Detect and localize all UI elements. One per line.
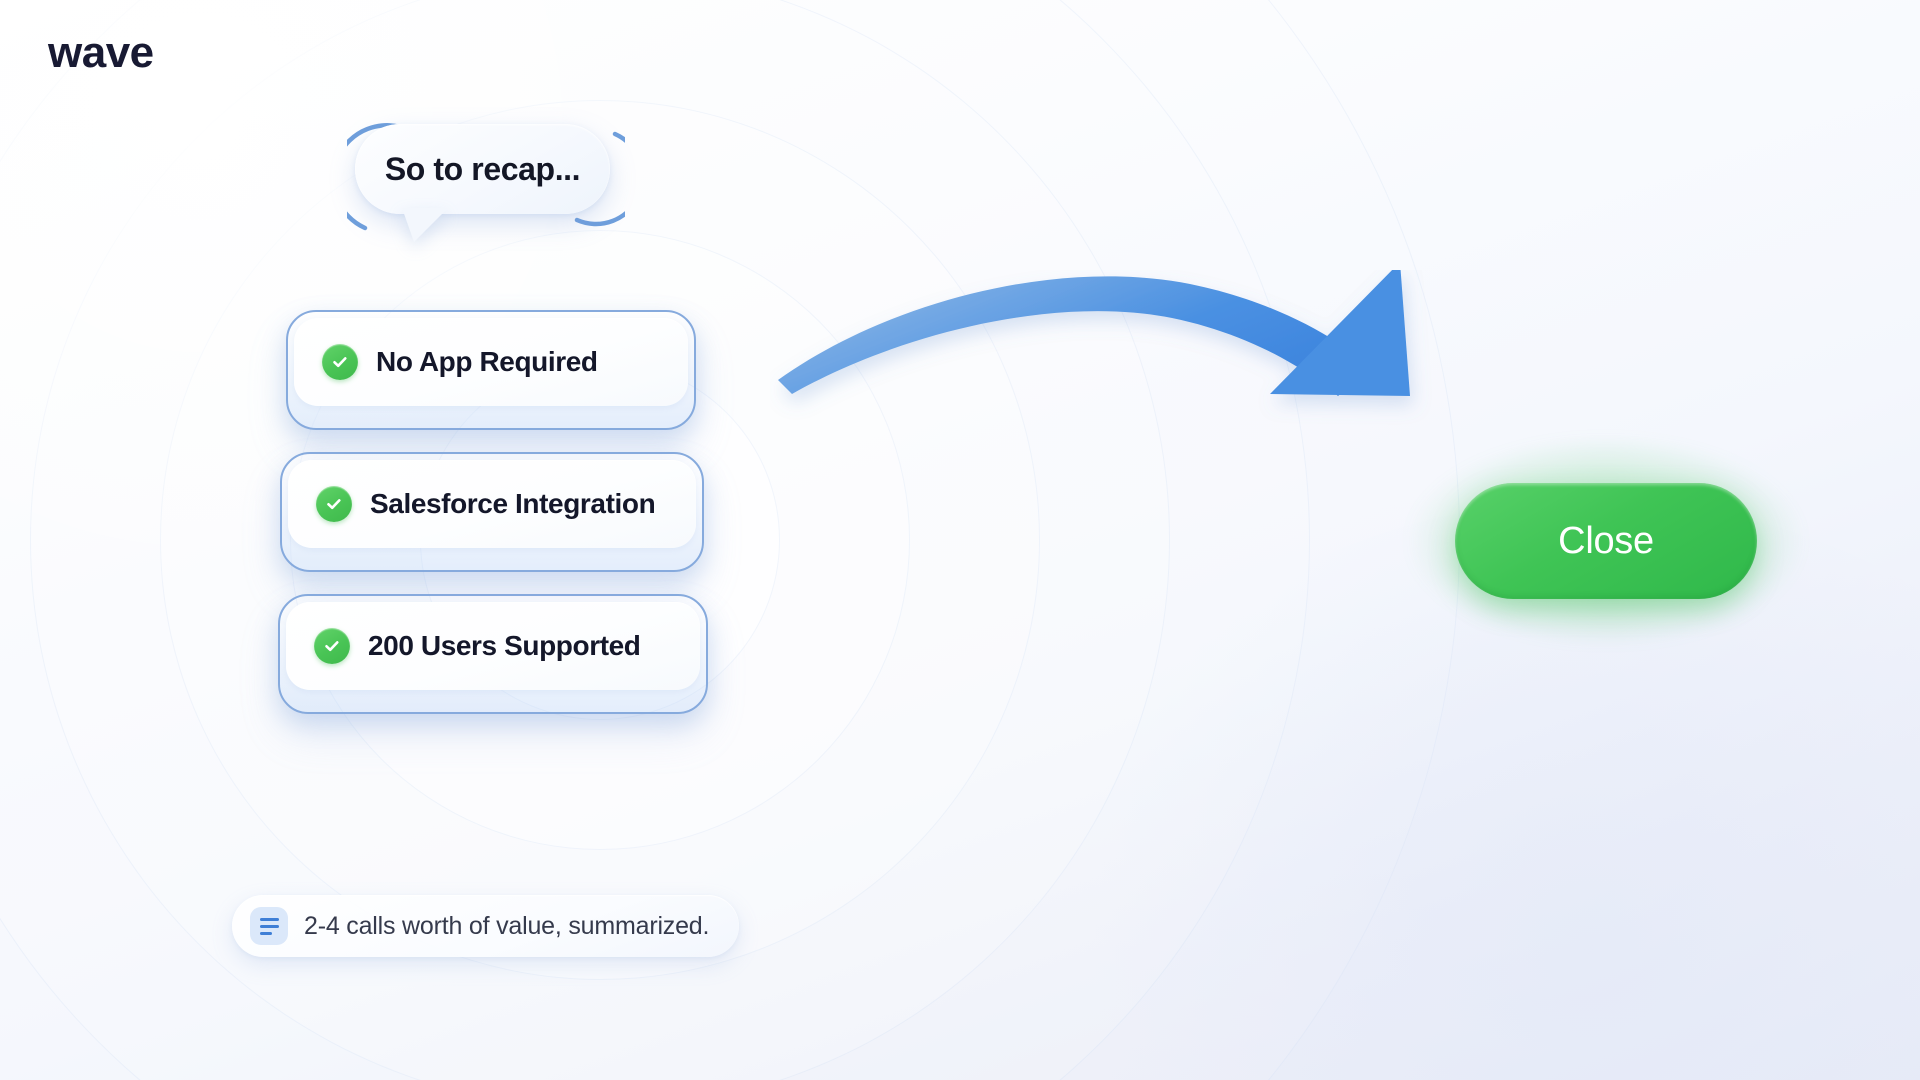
list-item[interactable]: 200 Users Supported — [278, 594, 708, 714]
wave-logo: wave — [48, 28, 154, 78]
check-circle-icon — [322, 344, 358, 380]
bubble-text: So to recap... — [385, 151, 580, 188]
close-button[interactable]: Close — [1455, 483, 1757, 599]
check-circle-icon — [316, 486, 352, 522]
feature-card-0[interactable]: No App Required — [294, 318, 688, 406]
feature-card-list: No App Required Salesforce Integration — [286, 310, 726, 736]
feature-card-label: Salesforce Integration — [370, 488, 655, 520]
slide-canvas: wave So to recap... No App Required — [0, 0, 1920, 1080]
close-button-wrapper: Close — [1455, 483, 1757, 599]
feature-card-label: 200 Users Supported — [368, 630, 641, 662]
bubble-tail-icon — [402, 208, 448, 242]
summary-text: 2-4 calls worth of value, summarized. — [304, 912, 709, 941]
list-item[interactable]: Salesforce Integration — [280, 452, 704, 572]
feature-card-2[interactable]: 200 Users Supported — [286, 602, 700, 690]
bubble-body: So to recap... — [355, 124, 610, 214]
feature-card-label: No App Required — [376, 346, 598, 378]
summary-pill: 2-4 calls worth of value, summarized. — [232, 895, 739, 957]
check-circle-icon — [314, 628, 350, 664]
list-item[interactable]: No App Required — [286, 310, 696, 430]
curved-arrow-icon — [770, 270, 1450, 490]
feature-card-1[interactable]: Salesforce Integration — [288, 460, 696, 548]
speech-bubble: So to recap... — [355, 124, 617, 244]
list-lines-icon — [250, 907, 288, 945]
